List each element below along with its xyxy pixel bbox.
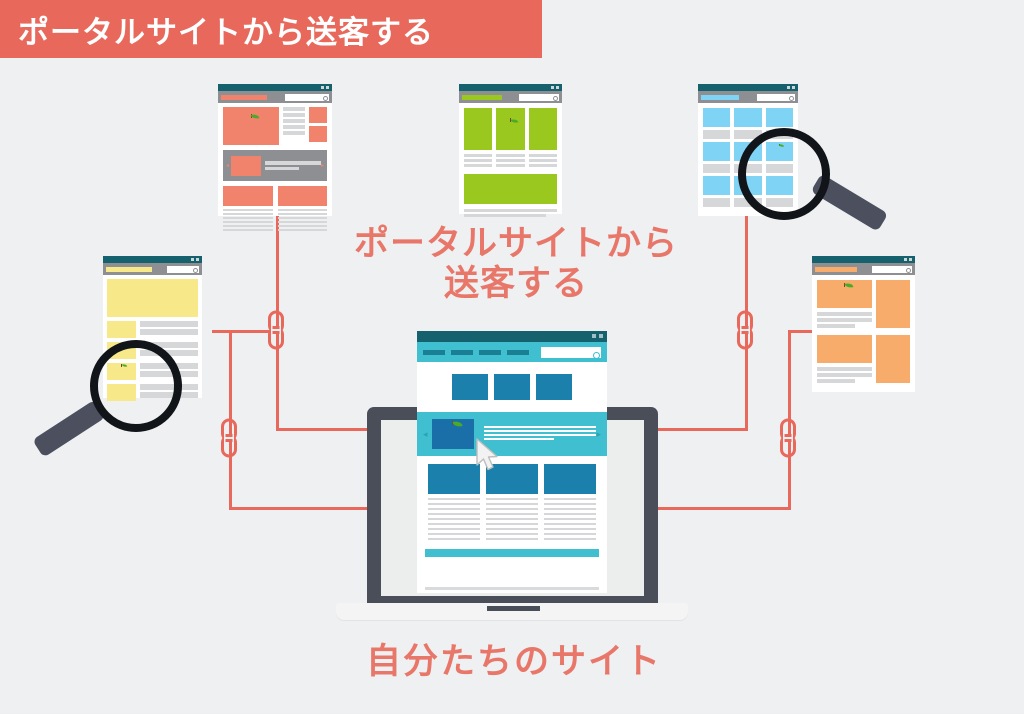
nav-menu-item[interactable] — [479, 350, 501, 355]
magnifier-ring — [90, 340, 182, 432]
carousel[interactable]: ◂ ▸ — [417, 412, 607, 456]
hero-banner — [107, 279, 198, 317]
magnifier-icon-left — [16, 340, 186, 455]
carousel-prev-icon[interactable]: ◂ — [226, 162, 229, 169]
site-footer-bar — [425, 549, 599, 557]
search-field[interactable] — [872, 266, 912, 273]
browser-titlebar — [417, 331, 607, 342]
nav-menu-strip — [462, 95, 502, 100]
card-body — [812, 275, 915, 390]
hero-image — [496, 108, 524, 150]
nav-menu-item[interactable] — [507, 350, 529, 355]
hero-tile[interactable] — [536, 374, 572, 400]
own-site-browser-window[interactable]: ◂ ▸ — [417, 331, 607, 593]
center-heading-line-1: ポータルサイトから — [332, 224, 700, 264]
window-dots-icon — [551, 86, 559, 89]
hero-tile[interactable] — [494, 374, 530, 400]
nav-bar — [812, 263, 915, 275]
hero-image — [817, 280, 872, 308]
browser-nav-bar — [417, 342, 607, 362]
nav-menu[interactable] — [423, 350, 529, 355]
article-thumbnail — [544, 464, 596, 494]
apple-icon — [242, 117, 260, 135]
nav-menu-strip — [221, 95, 267, 100]
window-dots-icon — [321, 86, 329, 89]
window-titlebar — [103, 256, 202, 263]
carousel-thumbnail — [432, 419, 474, 449]
carousel-band: ◂ ▸ — [223, 150, 327, 181]
window-dots-icon — [904, 258, 912, 261]
search-field[interactable] — [167, 266, 199, 273]
search-input[interactable] — [541, 347, 601, 358]
magnifier-ring — [738, 128, 830, 220]
own-site-label: 自分たちのサイト — [334, 633, 694, 684]
connector-top-left-horizontal — [276, 428, 376, 431]
window-titlebar — [459, 84, 562, 91]
chain-link-icon — [735, 310, 755, 350]
article-card[interactable] — [486, 464, 538, 543]
connector-right-horizontal-top — [788, 330, 812, 333]
nav-menu-item[interactable] — [451, 350, 473, 355]
nav-menu-strip — [701, 95, 739, 100]
portal-card-right[interactable] — [812, 256, 915, 392]
card-body — [459, 103, 562, 224]
nav-menu-strip — [106, 267, 152, 272]
carousel-thumb — [231, 156, 261, 176]
window-titlebar — [812, 256, 915, 263]
header-banner-title: ポータルサイトから送客する — [18, 7, 434, 52]
article-card[interactable] — [428, 464, 480, 543]
carousel-prev-icon[interactable]: ◂ — [423, 430, 428, 439]
nav-bar — [698, 91, 798, 103]
portal-card-top-left[interactable]: ◂ ▸ — [218, 84, 332, 216]
apple-icon — [836, 286, 853, 303]
search-field[interactable] — [757, 94, 795, 101]
header-banner: ポータルサイトから送客する — [0, 0, 542, 58]
nav-bar — [103, 263, 202, 275]
search-field[interactable] — [519, 94, 559, 101]
chain-link-icon — [219, 418, 239, 458]
laptop-trackpad-notch — [487, 606, 540, 611]
center-heading: ポータルサイトから 送客する — [332, 224, 700, 304]
window-titlebar — [218, 84, 332, 91]
connector-top-right-horizontal — [648, 428, 748, 431]
card-body: ◂ ▸ — [218, 103, 332, 237]
article-card[interactable] — [544, 464, 596, 543]
magnifier-handle — [32, 400, 105, 458]
chain-link-icon — [778, 418, 798, 458]
window-dots-icon — [592, 334, 603, 338]
window-dots-icon — [787, 86, 795, 89]
center-heading-line-2: 送客する — [332, 264, 700, 304]
browser-bottom-bar — [425, 587, 599, 590]
hero-tile[interactable] — [452, 374, 488, 400]
portal-card-top-middle[interactable] — [459, 84, 562, 214]
infographic-canvas: ◂ ▸ — [0, 0, 1024, 714]
nav-bar — [218, 91, 332, 103]
nav-menu-item[interactable] — [423, 350, 445, 355]
apple-icon — [443, 424, 463, 444]
search-field[interactable] — [285, 94, 329, 101]
hero-image — [223, 107, 279, 145]
hero-tile-row — [417, 362, 607, 412]
nav-bar — [459, 91, 562, 103]
article-card-row — [417, 456, 607, 543]
article-thumbnail — [428, 464, 480, 494]
apple-icon — [502, 121, 518, 137]
connector-right-horizontal-bottom — [645, 507, 791, 510]
carousel-next-icon[interactable]: ▸ — [596, 430, 601, 439]
carousel-next-icon[interactable]: ▸ — [321, 162, 324, 169]
nav-menu-strip — [815, 267, 857, 272]
window-dots-icon — [191, 258, 199, 261]
window-titlebar — [698, 84, 798, 91]
magnifier-icon-top-right — [738, 128, 908, 238]
chain-link-icon — [266, 310, 286, 350]
connector-left-horizontal-bottom — [229, 507, 379, 510]
